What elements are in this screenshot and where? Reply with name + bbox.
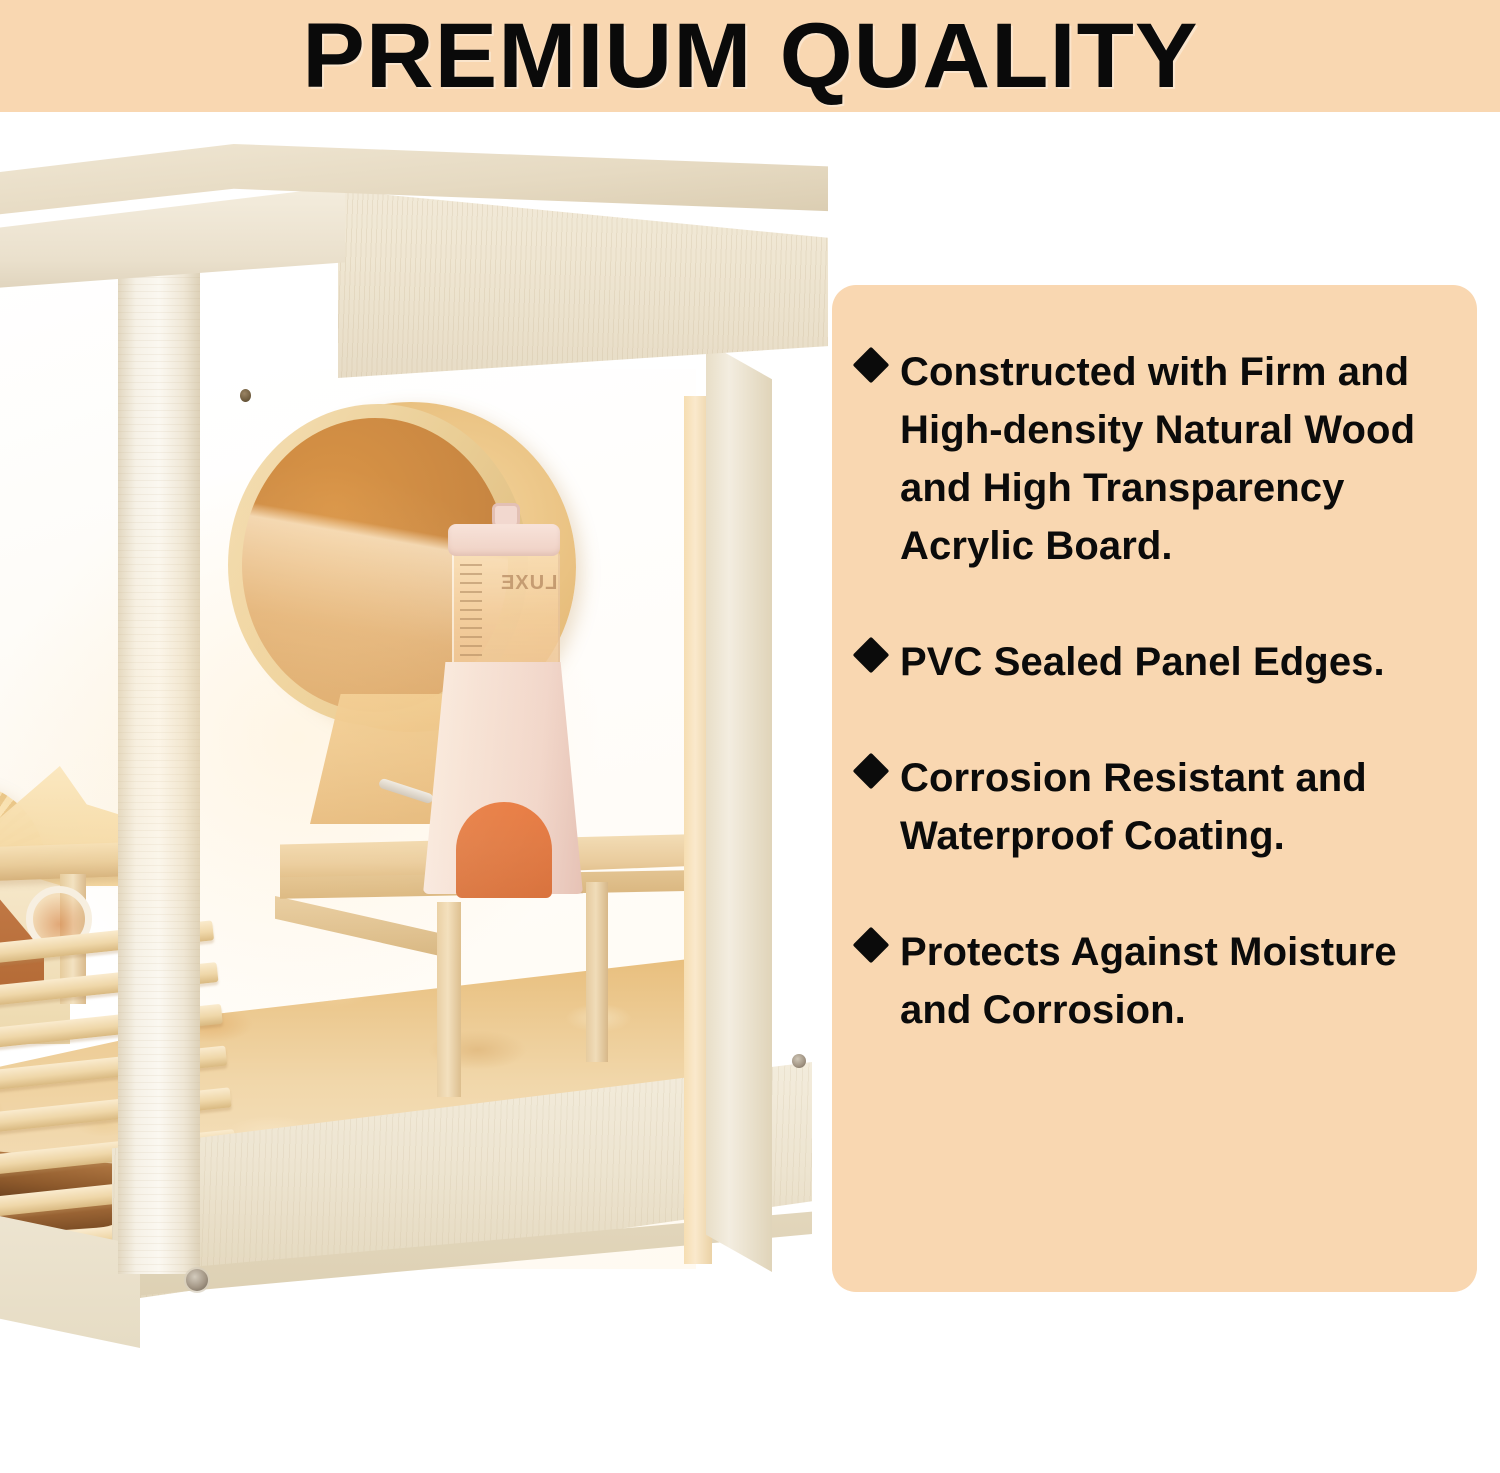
shelf-leg [586,882,608,1062]
diamond-bullet-icon [853,347,890,384]
diamond-bullet-icon [853,637,890,674]
feature-bullet-text: Corrosion Resistant and Waterproof Coati… [900,749,1443,865]
page-title: PREMIUM QUALITY [302,10,1198,102]
hamster-cage-illustration: LUXE [0,134,828,1304]
diamond-bullet-icon [853,753,890,790]
water-bottle-brand-label: LUXE [500,572,557,595]
feature-bullet-item: Protects Against Moisture and Corrosion. [858,923,1443,1039]
cage-corner-post [118,242,200,1274]
screw-icon [186,1269,208,1291]
water-bottle-scale-markings [460,564,482,660]
screw-icon [240,389,251,402]
water-bottle-cap [448,524,560,556]
header-banner: PREMIUM QUALITY [0,0,1500,112]
screw-icon [792,1054,806,1068]
feature-bullet-text: Protects Against Moisture and Corrosion. [900,923,1443,1039]
feature-bullet-item: PVC Sealed Panel Edges. [858,633,1443,691]
shelf-leg [437,902,461,1097]
feature-bullet-item: Corrosion Resistant and Waterproof Coati… [858,749,1443,865]
feeder-opening [456,802,552,898]
feature-bullet-list: Constructed with Firm and High-density N… [858,343,1443,1039]
cage-right-rail [706,342,772,1272]
diamond-bullet-icon [853,927,890,964]
feature-highlights-panel: Constructed with Firm and High-density N… [832,285,1477,1292]
feature-bullet-text: Constructed with Firm and High-density N… [900,343,1443,575]
feature-bullet-text: PVC Sealed Panel Edges. [900,633,1385,691]
feature-bullet-item: Constructed with Firm and High-density N… [858,343,1443,575]
product-photo: LUXE [0,112,828,1473]
